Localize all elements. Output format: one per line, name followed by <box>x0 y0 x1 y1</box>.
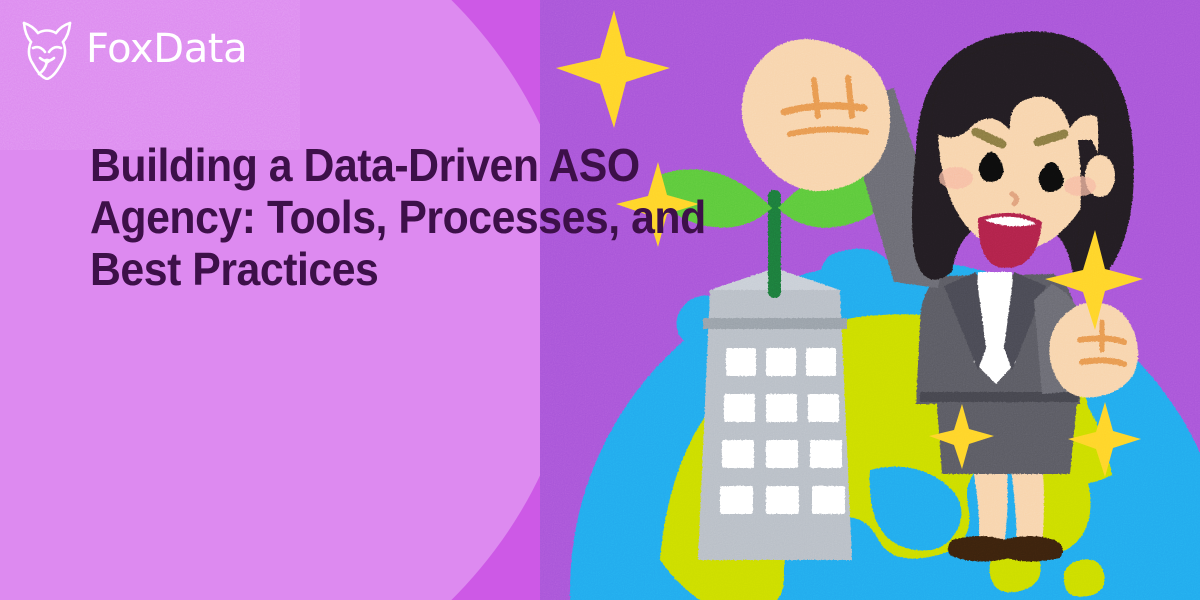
page-title: Building a Data-Driven ASO Agency: Tools… <box>90 140 722 296</box>
businesswoman-on-globe-illustration <box>540 0 1200 600</box>
background-accent-blob <box>0 0 580 600</box>
fox-head-logo-icon <box>18 18 76 80</box>
logo-wordmark: FoxData <box>86 29 247 69</box>
foxdata-logo[interactable]: FoxData <box>18 18 247 80</box>
blog-hero-banner: FoxData Building a Data-Driven ASO Agenc… <box>0 0 1200 600</box>
